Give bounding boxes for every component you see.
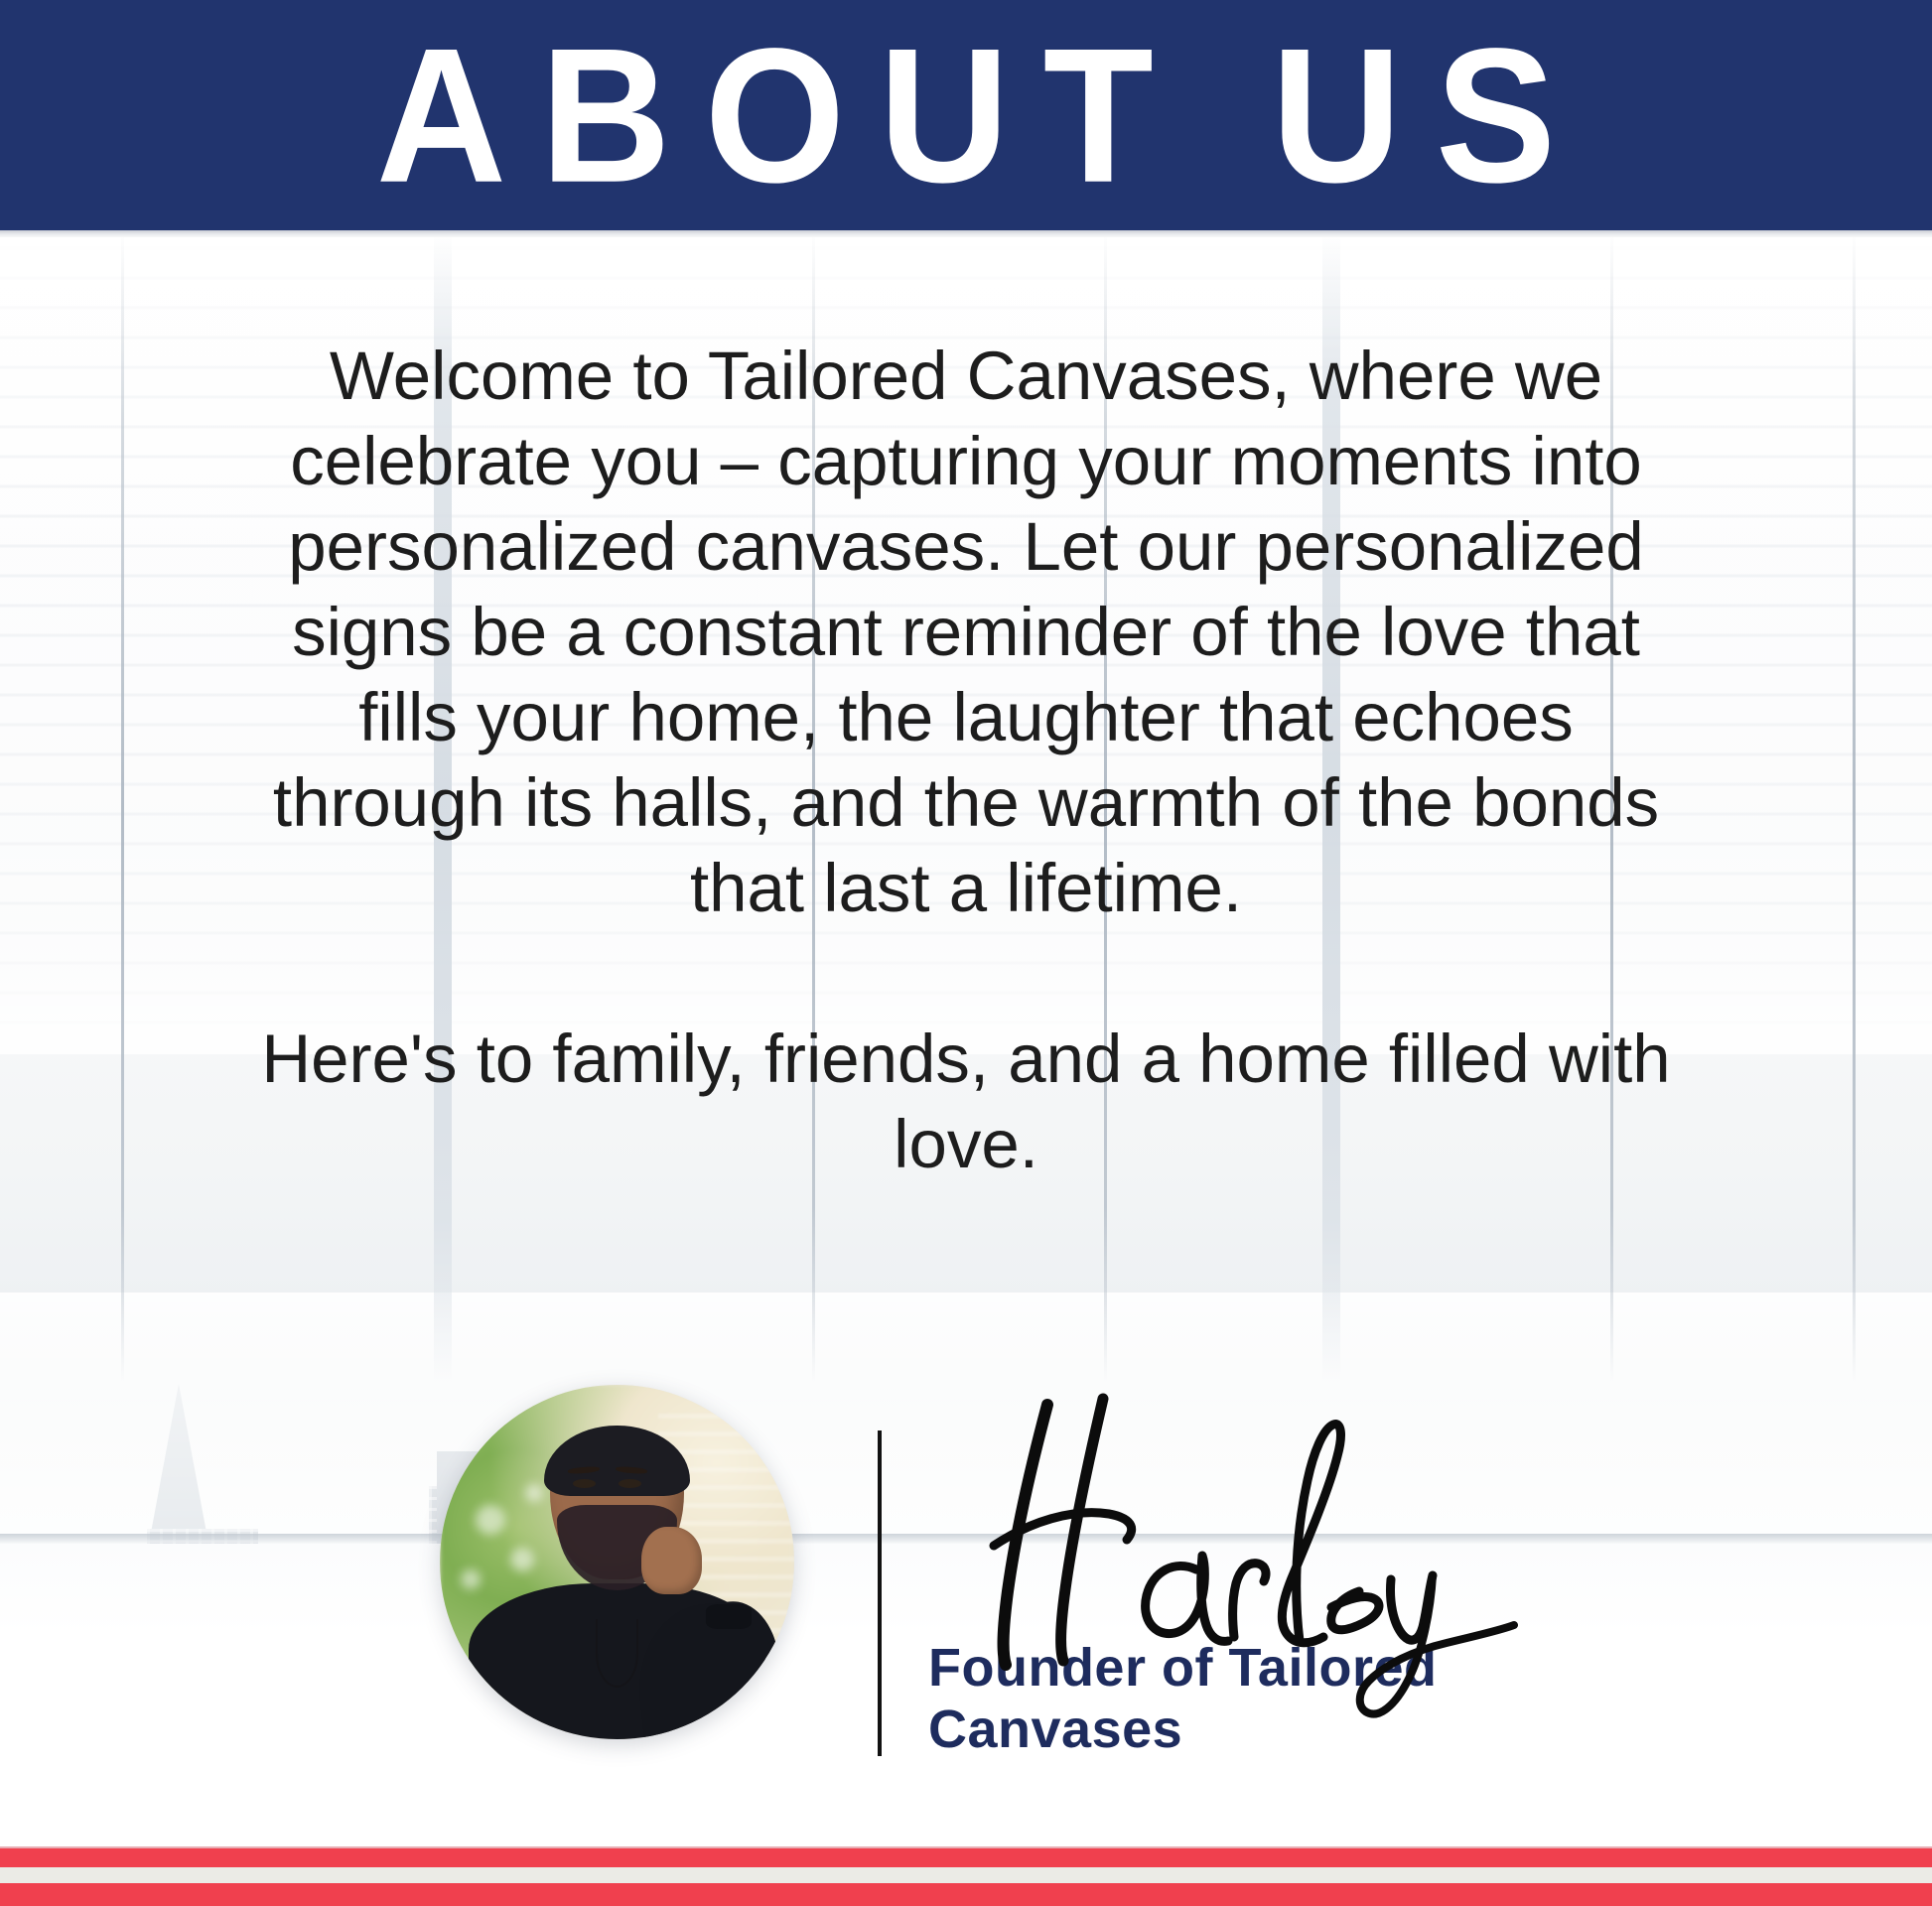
- avatar-hand: [641, 1527, 702, 1594]
- banner-underline: [0, 230, 1932, 237]
- avatar-eye-right: [619, 1479, 641, 1488]
- avatar: [440, 1385, 794, 1739]
- paragraph-spacer: [256, 931, 1676, 1017]
- founder-signature: [898, 1395, 1574, 1722]
- avatar-watch: [706, 1604, 752, 1629]
- signature-icon: [898, 1395, 1574, 1722]
- footer-bar-gap: [0, 1867, 1932, 1883]
- about-paragraph-1: Welcome to Tailored Canvases, where we c…: [256, 334, 1676, 931]
- footer-bar-bottom: [0, 1883, 1932, 1906]
- footer-bar-top: [0, 1848, 1932, 1867]
- page-title: ABOUT US: [343, 20, 1589, 211]
- about-us-banner: ABOUT US: [0, 0, 1932, 230]
- avatar-eye-left: [573, 1479, 596, 1488]
- signature-divider: [878, 1430, 882, 1756]
- about-us-poster: ABOUT US Welcome to Tailored Canvases, w…: [0, 0, 1932, 1906]
- about-us-copy: Welcome to Tailored Canvases, where we c…: [256, 334, 1676, 1187]
- about-paragraph-2: Here's to family, friends, and a home fi…: [256, 1017, 1676, 1187]
